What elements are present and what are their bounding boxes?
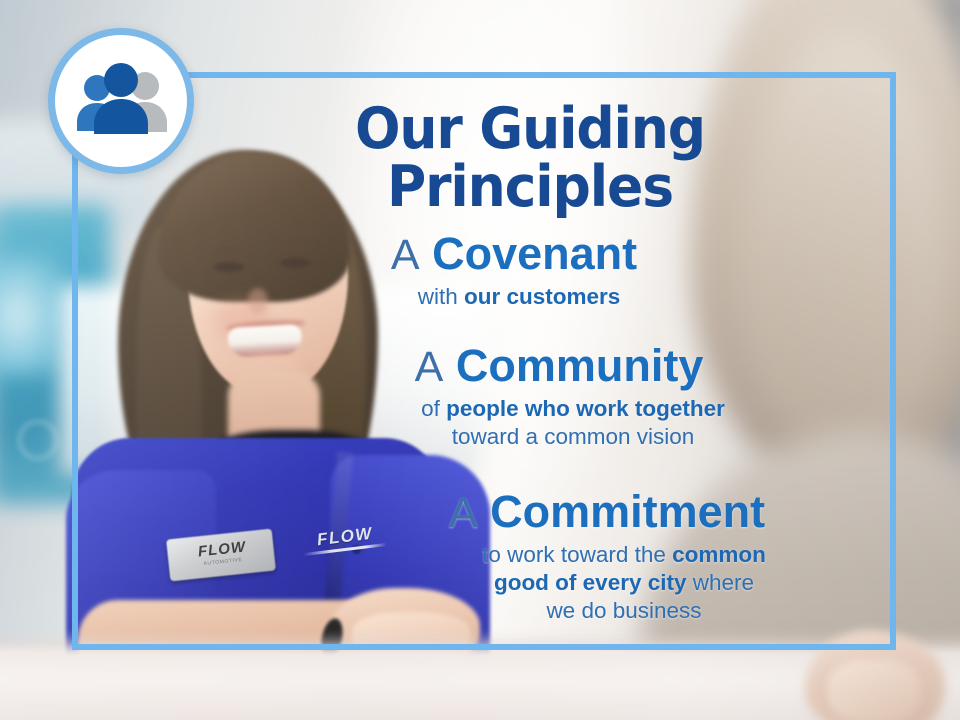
subtext-run: of <box>421 396 446 421</box>
page-title: Our Guiding Principles <box>214 100 846 216</box>
subtext-run-bold: people who work together <box>446 396 725 421</box>
principle-word: Community <box>456 340 704 391</box>
principle-article: A <box>415 343 444 391</box>
principle-subtext-line: with our customers <box>172 283 866 311</box>
people-group-icon <box>69 62 173 140</box>
vw-logo-blurred <box>18 420 58 460</box>
subtext-run: to work toward the <box>482 542 672 567</box>
subtext-run-bold: good of every city <box>494 570 687 595</box>
principle-article: A <box>449 489 478 537</box>
subtext-run-bold: common <box>672 542 766 567</box>
principle-subtext-line: good of every city where <box>382 569 866 597</box>
principle-subtext-line: toward a common vision <box>280 423 866 451</box>
principle-covenant: A Covenant with our customers <box>162 230 866 311</box>
principle-heading: A Commitment <box>348 488 866 536</box>
showroom-car-highlight <box>0 255 65 375</box>
principle-commitment: A Commitment to work toward the common g… <box>348 488 866 626</box>
principle-subtext: with our customers <box>172 283 866 311</box>
principle-article: A <box>391 231 420 279</box>
subtext-run-bold: our customers <box>464 284 620 309</box>
principle-subtext-line: of people who work together <box>280 395 866 423</box>
principle-heading: A Covenant <box>162 230 866 278</box>
principle-heading: A Community <box>252 342 866 390</box>
principle-word: Covenant <box>432 228 637 279</box>
subtext-run: where <box>687 570 755 595</box>
principle-community: A Community of people who work together … <box>252 342 866 452</box>
customer-fingers <box>828 660 920 720</box>
principle-subtext-line: to work toward the common <box>382 541 866 569</box>
principle-subtext-line: we do business <box>382 597 866 625</box>
overlay-text-content: Our Guiding Principles A Covenant with o… <box>72 72 896 650</box>
principle-subtext: of people who work together toward a com… <box>280 395 866 452</box>
subtext-run: with <box>418 284 464 309</box>
guiding-principles-badge <box>48 28 194 174</box>
principle-word: Commitment <box>490 486 765 537</box>
principle-subtext: to work toward the common good of every … <box>382 541 866 626</box>
